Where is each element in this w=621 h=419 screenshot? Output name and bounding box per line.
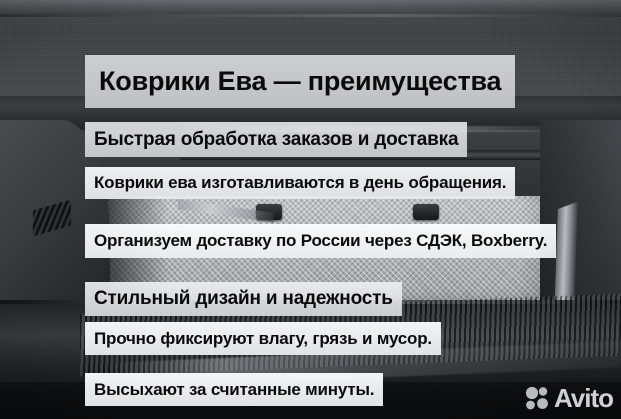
benefit-banner-4: Стильный дизайн и надежность	[85, 282, 402, 316]
benefit-text-6: Высыхают за считанные минуты.	[94, 380, 374, 400]
benefit-text-1: Быстрая обработка заказов и доставка	[94, 129, 458, 151]
benefit-text-5: Прочно фиксируют влагу, грязь и мусор.	[94, 329, 432, 349]
mat-retainer-clip	[413, 204, 439, 220]
benefit-banner-3: Организуем доставку по России через СДЭК…	[85, 224, 556, 258]
benefit-banner-6: Высыхают за считанные минуты.	[85, 373, 383, 406]
benefit-banner-5: Прочно фиксируют влагу, грязь и мусор.	[85, 322, 441, 355]
benefit-text-4: Стильный дизайн и надежность	[94, 288, 393, 310]
benefit-text-2: Коврики ева изготавливаются в день обращ…	[94, 173, 506, 193]
headline-banner: Коврики Ева — преимущества	[85, 55, 515, 108]
advertisement-image: Коврики Ева — преимущества Быстрая обраб…	[0, 0, 621, 419]
avito-dots-logo-icon	[524, 385, 550, 411]
benefit-text-3: Организуем доставку по России через СДЭК…	[94, 231, 547, 251]
benefit-banner-1: Быстрая обработка заказов и доставка	[85, 122, 467, 157]
upper-trim-panel	[0, 0, 621, 14]
upper-trim-edge	[0, 14, 621, 17]
benefit-banner-2: Коврики ева изготавливаются в день обращ…	[85, 167, 515, 199]
avito-wordmark: Avito	[554, 385, 613, 411]
avito-watermark: Avito	[524, 385, 613, 411]
headline-text: Коврики Ева — преимущества	[99, 66, 501, 97]
